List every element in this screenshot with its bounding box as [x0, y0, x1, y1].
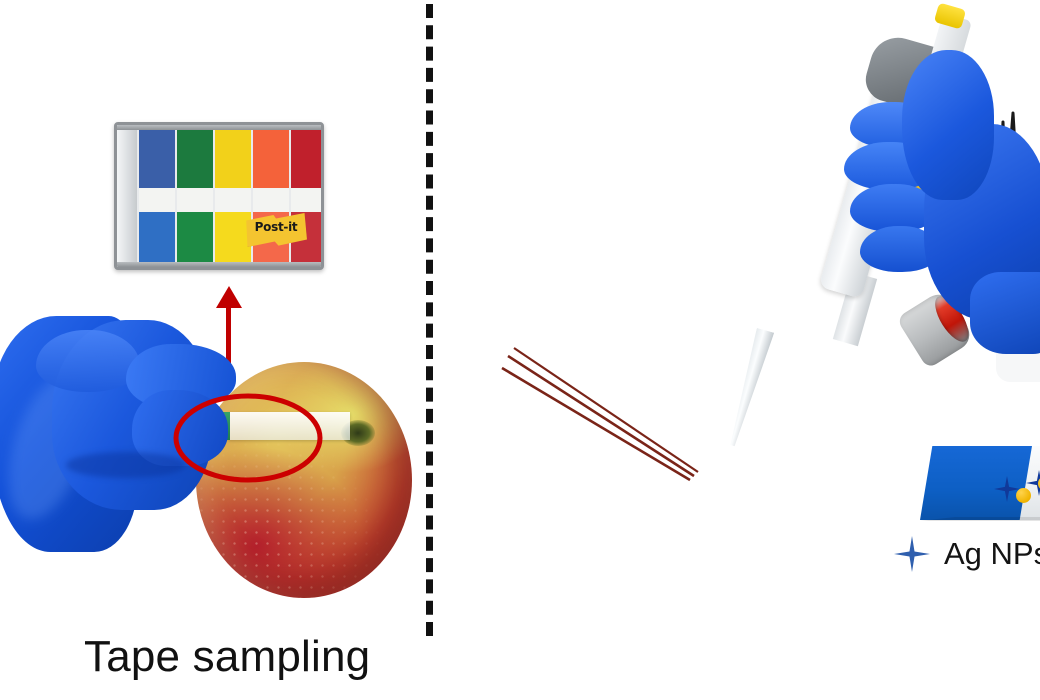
right-glove-thumb [902, 50, 994, 200]
pesticide-dot-icon [1016, 488, 1031, 503]
glove-knuckles [36, 330, 140, 392]
graphical-abstract-figure: Post-it Tape sampling [0, 0, 1040, 700]
post-it-logo-text: Post-it [245, 220, 307, 234]
flag-red [291, 128, 324, 264]
ag-nps-legend-star-icon [894, 536, 930, 572]
flag-yellow [215, 128, 251, 264]
red-annotation-ellipse [172, 392, 324, 484]
post-it-flag-pack: Post-it [114, 122, 324, 270]
glove-fold-shadow [66, 452, 186, 478]
pack-rail-bottom [117, 262, 321, 267]
sers-substrate-slide [920, 446, 1040, 520]
flag-green [177, 128, 213, 264]
pack-rail-top [117, 125, 321, 130]
ag-nps-legend-label: Ag NPs [944, 536, 1040, 572]
left-panel-caption: Tape sampling [84, 632, 370, 682]
slide-blue-label [920, 446, 1032, 520]
pack-sheen [117, 125, 137, 267]
laser-beam-lines [466, 320, 766, 500]
figure-legend: Ag NPs Pesticide [894, 534, 1040, 580]
micropipette-in-gloved-hand [806, 28, 1040, 340]
left-panel: Post-it Tape sampling [0, 0, 426, 700]
right-glove-wrist [970, 272, 1040, 354]
pack-case: Post-it [114, 122, 324, 270]
legend-item-ag-nps: Ag NPs [894, 536, 1040, 572]
flag-blue [139, 128, 175, 264]
